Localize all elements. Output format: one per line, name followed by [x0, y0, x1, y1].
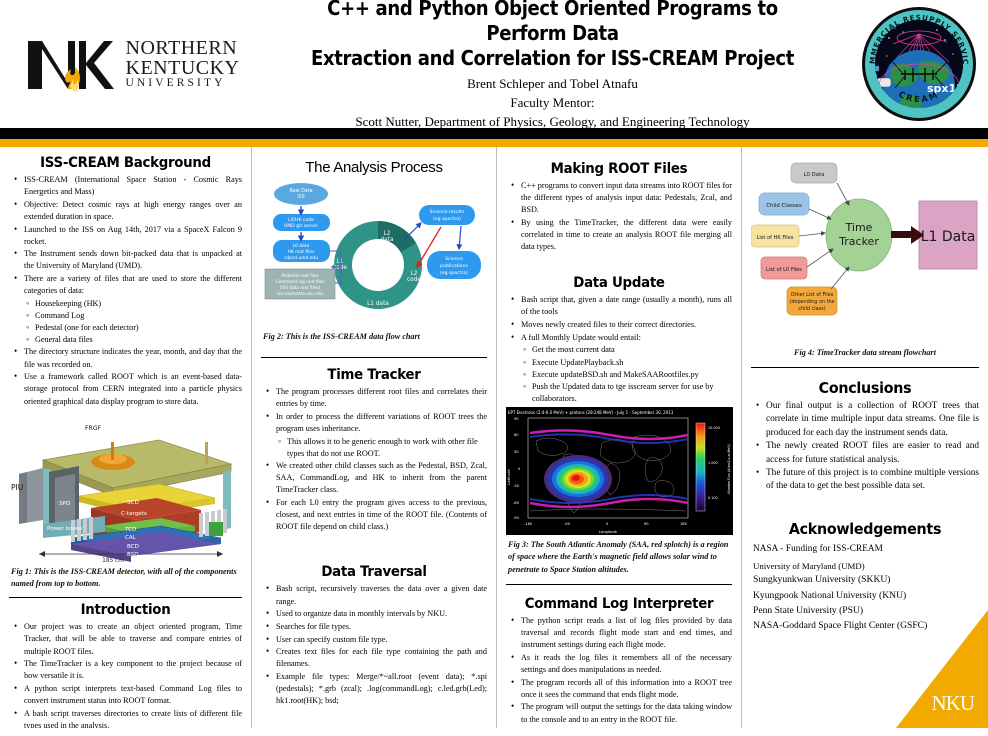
svg-text:List of L0 Files: List of L0 Files — [766, 267, 802, 273]
svg-text:Other List of Files: Other List of Files — [791, 292, 834, 298]
header-gold-bar — [0, 139, 988, 147]
iss-cream-background-list: ISS-CREAM (International Space Station -… — [9, 174, 242, 408]
section-title-data-traversal: Data Traversal — [270, 564, 478, 580]
svg-text:(depending on the: (depending on the — [789, 299, 834, 305]
fig1-label-scd: SCD — [127, 500, 139, 506]
nku-corner-logo: NKU — [932, 691, 975, 716]
list-item: We created other child classes such as t… — [274, 460, 487, 496]
fig1-label-bsd: BSD — [127, 552, 139, 558]
fig3-cbar-tick: 1.000 — [708, 461, 718, 465]
list-item: Objective: Detect cosmic rays at high en… — [22, 199, 242, 223]
fig1-label-frgf: FRGF — [85, 425, 102, 432]
time-tracker-list: The program processes different root fil… — [261, 386, 487, 533]
list-item: The TimeTracker is a key component to th… — [22, 658, 242, 682]
list-item: User can specify custom file type. — [274, 634, 487, 646]
list-item: Get the most current data — [532, 344, 732, 356]
fig3-plot-title: EPT Electrons (2.4-6.0 MeV) + protons (2… — [508, 410, 674, 415]
faculty-mentor-name: Scott Nutter, Department of Physics, Geo… — [261, 113, 844, 132]
fig3-saa-plot: EPT Electrons (2.4-6.0 MeV) + protons (2… — [506, 407, 732, 535]
list-item: Our project was to create an object orie… — [22, 621, 242, 657]
column-1: ISS-CREAM Background ISS-CREAM (Internat… — [0, 147, 252, 728]
poster-authors: Brent Schleper and Tobel Atnafu — [261, 75, 844, 94]
list-item: A python script interprets text-based Co… — [22, 683, 242, 707]
svg-text:Tracker: Tracker — [838, 235, 879, 248]
acknowledgement-item: University of Maryland (UMD) — [753, 560, 979, 573]
fig3-xlabel: Longitude — [599, 530, 618, 534]
list-item: ISS-CREAM (International Space Station -… — [22, 174, 242, 198]
fig1-detector-image: FRGF PIU SCD C-targets TCD CAL BCD BSD S… — [9, 412, 242, 562]
svg-text:UMD git server: UMD git server — [284, 223, 318, 229]
fig1-label-piu: PIU — [11, 483, 23, 492]
fig2-node-l2-code-2: code — [407, 277, 421, 283]
list-item: Our final output is a collection of ROOT… — [764, 400, 979, 440]
section-title-command-log-interpreter: Command Log Interpreter — [515, 596, 723, 612]
acknowledgement-item: NASA - Funding for ISS-CREAM — [753, 542, 979, 556]
list-item: A full Monthly Update would entail: — [519, 332, 732, 344]
fig4-timetracker-image: Time Tracker L0 Data Child Classes List … — [751, 157, 979, 347]
list-item: Housekeeping (HK) — [35, 298, 242, 310]
svg-text:isscreamdata.nku.edu: isscreamdata.nku.edu — [277, 291, 324, 296]
svg-text:(eg spectra): (eg spectra) — [440, 270, 468, 276]
svg-text:L1 Data: L1 Data — [921, 229, 976, 245]
column-2: The Analysis Process L2 data L1 co — [252, 147, 497, 728]
list-item: As it reads the log files it remembers a… — [519, 652, 732, 676]
fig2-donut — [334, 221, 422, 309]
fig3-ytick: 90 — [514, 417, 519, 421]
svg-text:Command log root files: Command log root files — [276, 279, 325, 284]
fig3-caption: Fig 3: The South Atlantic Anomaly (SAA, … — [508, 539, 730, 576]
poster-columns: ISS-CREAM Background ISS-CREAM (Internat… — [0, 147, 988, 728]
svg-text:publications: publications — [440, 263, 468, 269]
fig1-label-spd: SPD — [59, 501, 70, 507]
making-root-files-list: C++ programs to convert input data strea… — [506, 180, 732, 253]
nku-word-kentucky: KENTUCKY — [126, 58, 240, 78]
fig2-dataflow-image: L2 data L1 code L2 code L1 data Raw Data… — [261, 179, 487, 327]
section-title-introduction: Introduction — [18, 602, 232, 618]
spacer-divider — [261, 551, 487, 552]
fig3-xtick: -180 — [524, 522, 533, 526]
fig3-cbar-tick: 0.100 — [708, 496, 718, 500]
svg-text:cdpsd.umd.edu: cdpsd.umd.edu — [284, 255, 318, 261]
fig3-ylabel: Latitude — [506, 469, 511, 485]
crs-mission-patch-icon: spx12 COMMERCIAL RESUPPLY SERVICES CREAM — [859, 4, 979, 124]
title-block: C++ and Python Object Oriented Programs … — [255, 0, 850, 132]
fig3-xtick: 90 — [644, 522, 649, 526]
fig3-ytick: 60 — [514, 433, 519, 437]
list-item: There are a variety of files that are us… — [22, 273, 242, 297]
mission-patch-block: spx12 COMMERCIAL RESUPPLY SERVICES CREAM — [850, 4, 988, 124]
time-tracker-sublist: This allows it to be generic enough to w… — [274, 436, 487, 460]
fig1-label-power-boxes: Power boxes — [47, 526, 82, 532]
list-item: By using the TimeTracker, the different … — [519, 217, 732, 253]
svg-text:L0 Data: L0 Data — [803, 172, 824, 178]
fig1-label-ctargets: C-targets — [121, 511, 147, 517]
fig3-xtick: 180 — [680, 522, 688, 526]
list-item: The python script reads a list of log fi… — [519, 615, 732, 651]
list-item: Pedestal (one for each detector) — [35, 322, 242, 334]
section-divider — [751, 367, 979, 368]
poster-root: NORTHERN KENTUCKY UNIVERSITY C++ and Pyt… — [0, 0, 988, 736]
list-item: General data files — [35, 334, 242, 346]
list-item: The Instrument sends down bit-packed dat… — [22, 248, 242, 272]
fig2-caption: Fig 2: This is the ISS-CREAM data flow c… — [263, 331, 485, 343]
svg-text:child class): child class) — [798, 306, 825, 312]
nku-logo: NORTHERN KENTUCKY UNIVERSITY — [24, 33, 240, 95]
data-traversal-list: Bash script, recursively traverses the d… — [261, 583, 487, 707]
nku-flame-mark-icon — [24, 33, 120, 95]
section-title-data-update: Data Update — [515, 275, 723, 291]
introduction-list: Our project was to create an object orie… — [9, 621, 242, 732]
list-item: Searches for file types. — [274, 621, 487, 633]
data-update-list: Bash script that, given a date range (us… — [506, 294, 732, 405]
list-item: Bash script that, given a date range (us… — [519, 294, 732, 318]
list-item: Use a framework called ROOT which is an … — [22, 371, 242, 407]
poster-title-line2: Extraction and Correlation for ISS-CREAM… — [296, 46, 809, 70]
list-item: Execute UpdatePlayback.sh — [532, 357, 732, 369]
acknowledgement-item: Sungkyunkwan University (SKKU) — [753, 573, 979, 588]
monthly-update-sublist: Get the most current data Execute Update… — [519, 344, 732, 405]
svg-text:Time: Time — [845, 221, 873, 234]
poster-header: NORTHERN KENTUCKY UNIVERSITY C++ and Pyt… — [0, 0, 988, 128]
poster-title-line1: C++ and Python Object Oriented Programs … — [296, 0, 809, 45]
list-item: Launched to the ISS on Aug 14th, 2017 vi… — [22, 224, 242, 248]
fig3-saa-blob — [544, 455, 612, 503]
list-item: Execute updateBSD.sh and MakeSAARootfile… — [532, 369, 732, 381]
list-item: Example file types: Merge/*~all.root (ev… — [274, 671, 487, 707]
conclusions-list: Our final output is a collection of ROOT… — [751, 400, 979, 493]
nku-wordmark: NORTHERN KENTUCKY UNIVERSITY — [126, 38, 240, 90]
fig1-label-tcd: TCD — [124, 527, 136, 533]
list-item: In order to process the different variat… — [274, 411, 487, 435]
svg-text:List of HK Files: List of HK Files — [756, 235, 793, 241]
list-item: The program will output the settings for… — [519, 701, 732, 725]
faculty-mentor-label: Faculty Mentor: — [261, 94, 844, 113]
fig3-ytick: 30 — [514, 450, 519, 454]
svg-text:ISS: ISS — [297, 194, 305, 200]
list-item: For each L0 entry the program gives acce… — [274, 497, 487, 533]
list-item: Creates text files for each file type co… — [274, 646, 487, 670]
section-divider — [506, 584, 732, 585]
nku-word-northern: NORTHERN — [126, 38, 240, 58]
svg-text:L0/HK code: L0/HK code — [288, 217, 314, 223]
section-title-time-tracker: Time Tracker — [270, 367, 478, 383]
fig3-cbar-tick: 10.000 — [708, 426, 720, 430]
fig2-node-l1-data: L1 data — [367, 301, 389, 307]
svg-text:L0 data: L0 data — [293, 243, 310, 249]
fig3-cbar-label: Number Flux (#/cm2-s-sr-MeV) — [727, 444, 731, 493]
data-categories-sublist: Housekeeping (HK) Command Log Pedestal (… — [22, 298, 242, 347]
list-item: The program records all of this informat… — [519, 677, 732, 701]
footer-strip — [0, 728, 988, 736]
acknowledgement-item: Kyungpook National University (KNU) — [753, 589, 979, 604]
svg-text:(ISS data root files): (ISS data root files) — [280, 285, 321, 290]
list-item: The directory structure indicates the ye… — [22, 346, 242, 370]
list-item: The future of this project is to combine… — [764, 467, 979, 493]
svg-text:Raw Data: Raw Data — [289, 188, 312, 194]
section-title-making-root-files: Making ROOT Files — [515, 161, 723, 177]
section-title-conclusions: Conclusions — [760, 379, 970, 397]
svg-text:Science: Science — [445, 256, 463, 262]
list-item: This allows it to be generic enough to w… — [287, 436, 487, 460]
list-item: Push the Updated data to tge isscream se… — [532, 381, 732, 405]
list-item: C++ programs to convert input data strea… — [519, 180, 732, 216]
svg-text:Child Classes: Child Classes — [766, 203, 802, 209]
section-title-iss-cream-background: ISS-CREAM Background — [18, 155, 232, 171]
nku-word-university: UNIVERSITY — [126, 78, 240, 90]
section-divider — [261, 357, 487, 358]
list-item: The program processes different root fil… — [274, 386, 487, 410]
svg-text:HK root files: HK root files — [288, 249, 315, 255]
column-3: Making ROOT Files C++ programs to conver… — [497, 147, 742, 728]
fig2-node-l2-data-2: data — [380, 237, 394, 243]
svg-text:(eg spectra): (eg spectra) — [433, 216, 461, 222]
section-divider — [9, 597, 242, 598]
column-4: Time Tracker L0 Data Child Classes List … — [742, 147, 988, 728]
nku-logo-block: NORTHERN KENTUCKY UNIVERSITY — [0, 33, 255, 95]
fig3-ytick: -30 — [513, 484, 520, 488]
list-item: Moves newly created files to their corre… — [519, 319, 732, 331]
fig1-label-bcd: BCD — [127, 544, 139, 550]
section-title-acknowledgements: Acknowledgements — [760, 520, 970, 538]
list-item: The newly created ROOT files are easier … — [764, 440, 979, 466]
fig3-xtick: -90 — [564, 522, 571, 526]
fig1-caption: Fig 1: This is the ISS-CREAM detector, w… — [11, 566, 240, 591]
fig3-ytick: -60 — [513, 501, 520, 505]
command-log-interpreter-list: The python script reads a list of log fi… — [506, 615, 732, 726]
fig1-label-scale: 185 cm — [102, 558, 124, 562]
list-item: Command Log — [35, 310, 242, 322]
fig3-ytick: -90 — [513, 516, 520, 520]
list-item: Used to organize data in monthly interva… — [274, 608, 487, 620]
svg-text:Science results: Science results — [430, 209, 465, 215]
fig1-label-cal: CAL — [125, 535, 137, 541]
section-title-analysis-process: The Analysis Process — [261, 159, 487, 176]
svg-text:Pedestal root files: Pedestal root files — [281, 273, 318, 278]
list-item: Bash script, recursively traverses the d… — [274, 583, 487, 607]
fig4-caption: Fig 4: TimeTracker data stream flowchart — [753, 347, 977, 359]
